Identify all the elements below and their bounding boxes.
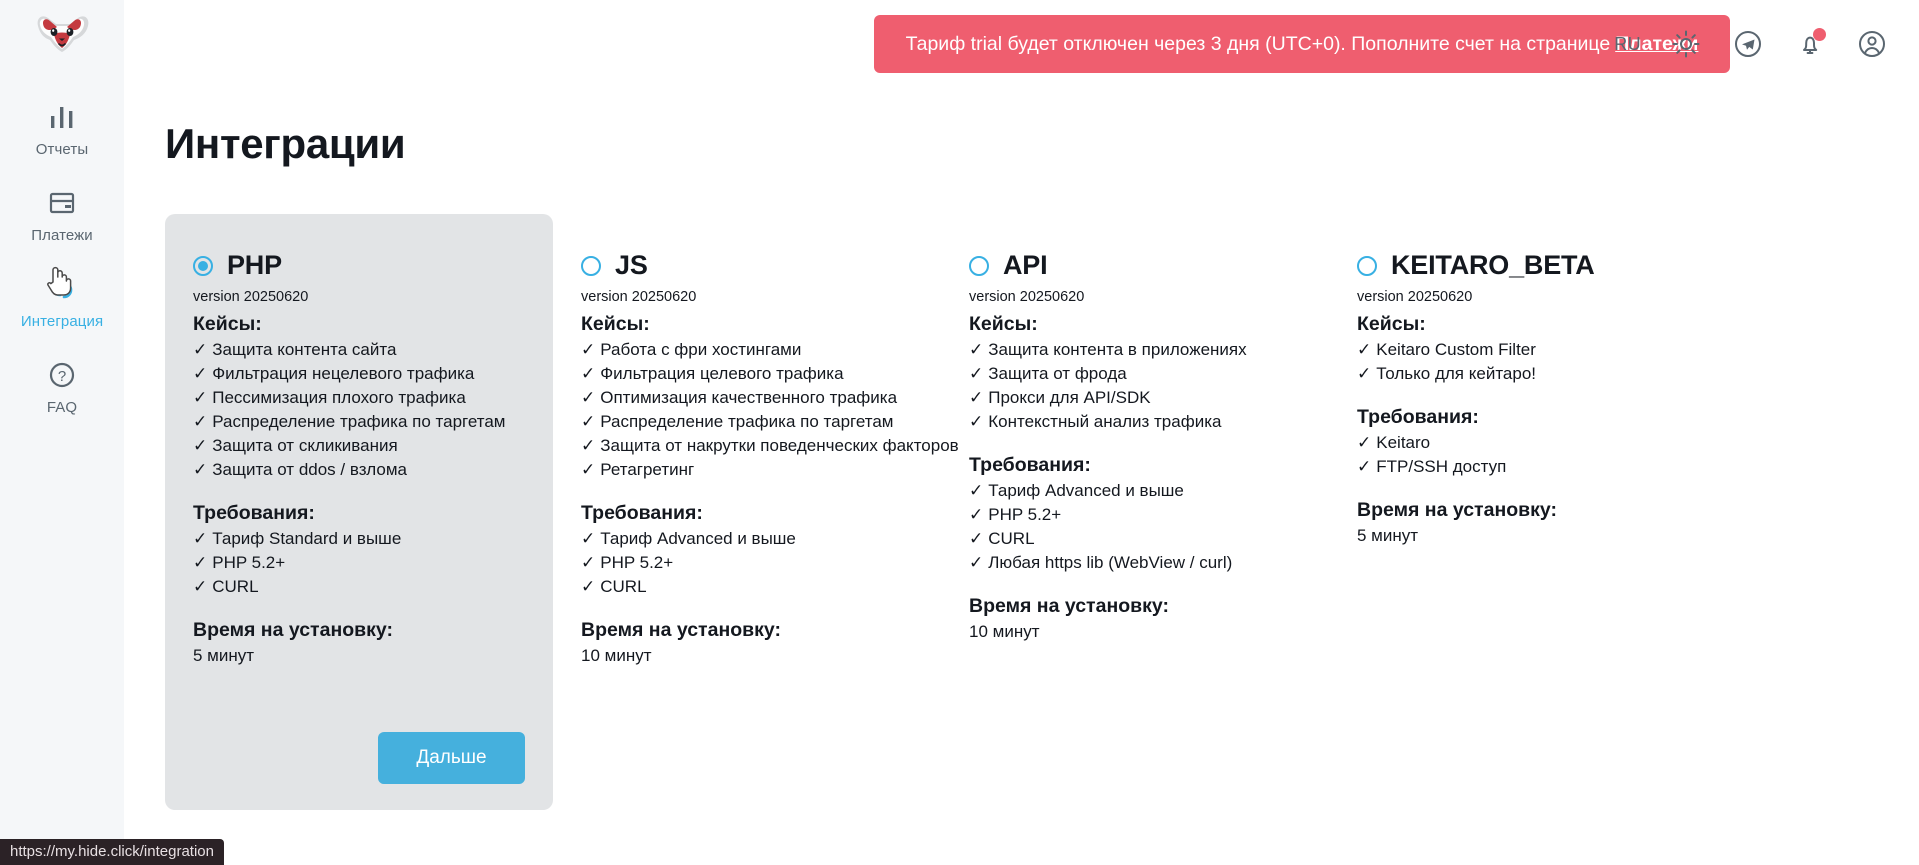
card-header: JS <box>581 250 913 281</box>
next-button[interactable]: Дальше <box>378 732 525 784</box>
feature-item: ✓Защита от ddos / взлома <box>193 458 525 482</box>
check-icon: ✓ <box>193 340 207 359</box>
feature-item: ✓Защита от фрода <box>969 362 1301 386</box>
radio-button-php[interactable] <box>193 256 213 276</box>
feature-item: ✓CURL <box>581 575 913 599</box>
integration-cards-list: PHPversion 20250620Кейсы:✓Защита контент… <box>165 214 1919 810</box>
feature-label: Защита от фрода <box>988 364 1126 383</box>
card-version: version 20250620 <box>1357 289 1689 305</box>
check-icon: ✓ <box>581 460 595 479</box>
feature-label: PHP 5.2+ <box>212 553 285 572</box>
feature-item: ✓Защита контента в приложениях <box>969 338 1301 362</box>
feature-label: Работа с фри хостингами <box>600 340 801 359</box>
svg-text:?: ? <box>58 368 66 385</box>
page-title: Интеграции <box>165 120 1919 168</box>
feature-item: ✓Распределение трафика по таргетам <box>193 410 525 434</box>
feature-item: ✓PHP 5.2+ <box>581 551 913 575</box>
feature-item: ✓FTP/SSH доступ <box>1357 455 1689 479</box>
card-title: API <box>1003 250 1047 281</box>
feature-item: ✓Защита от накрутки поведенческих фактор… <box>581 434 913 458</box>
browser-status-bar-url: https://my.hide.click/integration <box>0 839 224 865</box>
card-title: JS <box>615 250 648 281</box>
sidebar-item-label: Интеграция <box>21 313 103 330</box>
check-icon: ✓ <box>969 529 983 548</box>
section-title: Требования: <box>193 502 525 525</box>
check-icon: ✓ <box>193 436 207 455</box>
radio-button-js[interactable] <box>581 256 601 276</box>
feature-item: ✓Прокси для API/SDK <box>969 386 1301 410</box>
feature-item: ✓Защита от скликивания <box>193 434 525 458</box>
section-title: Кейсы: <box>193 313 525 336</box>
check-icon: ✓ <box>1357 457 1371 476</box>
feature-item: ✓Распределение трафика по таргетам <box>581 410 913 434</box>
bar-chart-icon <box>44 98 80 136</box>
check-icon: ✓ <box>1357 340 1371 359</box>
link-chain-icon <box>44 270 80 308</box>
radio-selected-dot <box>198 261 208 271</box>
integration-card-api[interactable]: APIversion 20250620Кейсы:✓Защита контент… <box>941 214 1329 810</box>
trial-warning-banner: Тариф trial будет отключен через 3 дня (… <box>874 15 1730 73</box>
section-title: Требования: <box>1357 406 1689 429</box>
user-account-icon[interactable] <box>1855 27 1889 61</box>
bell-icon[interactable] <box>1793 27 1827 61</box>
card-title: KEITARO_BETA <box>1391 250 1595 281</box>
install-time-value: 5 минут <box>1357 524 1689 548</box>
check-icon: ✓ <box>581 577 595 596</box>
feature-label: FTP/SSH доступ <box>1376 457 1506 476</box>
feature-item: ✓Фильтрация нецелевого трафика <box>193 362 525 386</box>
feature-label: PHP 5.2+ <box>988 505 1061 524</box>
check-icon: ✓ <box>969 505 983 524</box>
install-time-value: 5 минут <box>193 644 525 668</box>
feature-item: ✓Тариф Advanced и выше <box>969 479 1301 503</box>
feature-label: CURL <box>212 577 258 596</box>
app-logo-icon[interactable] <box>30 12 94 64</box>
section-title: Кейсы: <box>1357 313 1689 336</box>
feature-label: CURL <box>600 577 646 596</box>
section-title: Время на установку: <box>193 619 525 642</box>
feature-label: Только для кейтаро! <box>1376 364 1536 383</box>
check-icon: ✓ <box>969 553 983 572</box>
section-title: Требования: <box>581 502 913 525</box>
feature-label: Keitaro <box>1376 433 1430 452</box>
feature-item: ✓Тариф Standard и выше <box>193 527 525 551</box>
card-version: version 20250620 <box>193 289 525 305</box>
feature-item: ✓Защита контента сайта <box>193 338 525 362</box>
notification-badge-dot <box>1813 28 1826 41</box>
check-icon: ✓ <box>969 364 983 383</box>
feature-item: ✓CURL <box>193 575 525 599</box>
check-icon: ✓ <box>969 340 983 359</box>
check-icon: ✓ <box>193 460 207 479</box>
feature-item: ✓Keitaro Custom Filter <box>1357 338 1689 362</box>
check-icon: ✓ <box>581 388 595 407</box>
feature-label: CURL <box>988 529 1034 548</box>
feature-label: Распределение трафика по таргетам <box>212 412 505 431</box>
feature-label: Пессимизация плохого трафика <box>212 388 466 407</box>
check-icon: ✓ <box>969 481 983 500</box>
feature-item: ✓Keitaro <box>1357 431 1689 455</box>
feature-label: Фильтрация целевого трафика <box>600 364 843 383</box>
radio-button-api[interactable] <box>969 256 989 276</box>
check-icon: ✓ <box>193 529 207 548</box>
card-header: API <box>969 250 1301 281</box>
feature-label: Оптимизация качественного трафика <box>600 388 897 407</box>
feature-item: ✓Пессимизация плохого трафика <box>193 386 525 410</box>
credit-card-icon <box>44 184 80 222</box>
feature-label: Тариф Advanced и выше <box>988 481 1184 500</box>
sun-icon[interactable] <box>1669 27 1703 61</box>
sidebar-item-reports[interactable]: Отчеты <box>0 98 124 158</box>
language-switcher[interactable]: RU <box>1614 27 1641 61</box>
feature-label: Защита от скликивания <box>212 436 397 455</box>
feature-label: Ретагретинг <box>600 460 694 479</box>
check-icon: ✓ <box>581 340 595 359</box>
feature-label: Keitaro Custom Filter <box>1376 340 1536 359</box>
feature-label: PHP 5.2+ <box>600 553 673 572</box>
check-icon: ✓ <box>969 412 983 431</box>
feature-item: ✓Ретагретинг <box>581 458 913 482</box>
feature-label: Фильтрация нецелевого трафика <box>212 364 474 383</box>
feature-label: Тариф Standard и выше <box>212 529 401 548</box>
question-circle-icon: ? <box>44 356 80 394</box>
feature-item: ✓Оптимизация качественного трафика <box>581 386 913 410</box>
sidebar: Отчеты Платежи Интеграция ? <box>0 0 124 865</box>
check-icon: ✓ <box>1357 364 1371 383</box>
sidebar-item-integration[interactable]: Интеграция <box>0 270 124 330</box>
section-title: Время на установку: <box>969 595 1301 618</box>
feature-label: Контекстный анализ трафика <box>988 412 1221 431</box>
sidebar-item-label: Платежи <box>31 227 93 244</box>
feature-label: Прокси для API/SDK <box>988 388 1150 407</box>
check-icon: ✓ <box>969 388 983 407</box>
feature-item: ✓Любая https lib (WebView / curl) <box>969 551 1301 575</box>
check-icon: ✓ <box>1357 433 1371 452</box>
feature-item: ✓Работа с фри хостингами <box>581 338 913 362</box>
feature-label: Тариф Advanced и выше <box>600 529 796 548</box>
feature-item: ✓PHP 5.2+ <box>969 503 1301 527</box>
radio-button-keitaro_beta[interactable] <box>1357 256 1377 276</box>
feature-item: ✓Только для кейтаро! <box>1357 362 1689 386</box>
feature-label: Защита контента сайта <box>212 340 396 359</box>
sidebar-item-label: Отчеты <box>36 141 88 158</box>
check-icon: ✓ <box>193 388 207 407</box>
sidebar-item-payments[interactable]: Платежи <box>0 184 124 244</box>
section-title: Кейсы: <box>581 313 913 336</box>
section-title: Время на установку: <box>581 619 913 642</box>
check-icon: ✓ <box>581 553 595 572</box>
card-header: KEITARO_BETA <box>1357 250 1689 281</box>
section-title: Кейсы: <box>969 313 1301 336</box>
feature-label: Защита от накрутки поведенческих факторо… <box>600 436 958 455</box>
check-icon: ✓ <box>581 529 595 548</box>
check-icon: ✓ <box>193 553 207 572</box>
feature-label: Защита от ddos / взлома <box>212 460 407 479</box>
top-header-bar: Тариф trial будет отключен через 3 дня (… <box>124 0 1919 88</box>
card-version: version 20250620 <box>969 289 1301 305</box>
telegram-icon[interactable] <box>1731 27 1765 61</box>
check-icon: ✓ <box>193 364 207 383</box>
card-header: PHP <box>193 250 525 281</box>
check-icon: ✓ <box>193 577 207 596</box>
section-title: Требования: <box>969 454 1301 477</box>
sidebar-item-faq[interactable]: ? FAQ <box>0 356 124 416</box>
sidebar-item-label: FAQ <box>47 399 77 416</box>
feature-item: ✓Контекстный анализ трафика <box>969 410 1301 434</box>
card-title: PHP <box>227 250 282 281</box>
header-actions: RU <box>1614 0 1889 88</box>
feature-label: Защита контента в приложениях <box>988 340 1246 359</box>
integration-card-php[interactable]: PHPversion 20250620Кейсы:✓Защита контент… <box>165 214 553 810</box>
feature-item: ✓Фильтрация целевого трафика <box>581 362 913 386</box>
section-title: Время на установку: <box>1357 499 1689 522</box>
feature-item: ✓CURL <box>969 527 1301 551</box>
feature-label: Распределение трафика по таргетам <box>600 412 893 431</box>
main-content: Интеграции PHPversion 20250620Кейсы:✓Защ… <box>124 88 1919 865</box>
integration-card-keitaro_beta[interactable]: KEITARO_BETAversion 20250620Кейсы:✓Keita… <box>1329 214 1717 810</box>
card-version: version 20250620 <box>581 289 913 305</box>
check-icon: ✓ <box>581 436 595 455</box>
check-icon: ✓ <box>581 412 595 431</box>
integration-card-js[interactable]: JSversion 20250620Кейсы:✓Работа с фри хо… <box>553 214 941 810</box>
install-time-value: 10 минут <box>581 644 913 668</box>
install-time-value: 10 минут <box>969 620 1301 644</box>
feature-item: ✓PHP 5.2+ <box>193 551 525 575</box>
banner-text: Тариф trial будет отключен через 3 дня (… <box>906 33 1611 56</box>
feature-item: ✓Тариф Advanced и выше <box>581 527 913 551</box>
check-icon: ✓ <box>581 364 595 383</box>
feature-label: Любая https lib (WebView / curl) <box>988 553 1232 572</box>
check-icon: ✓ <box>193 412 207 431</box>
